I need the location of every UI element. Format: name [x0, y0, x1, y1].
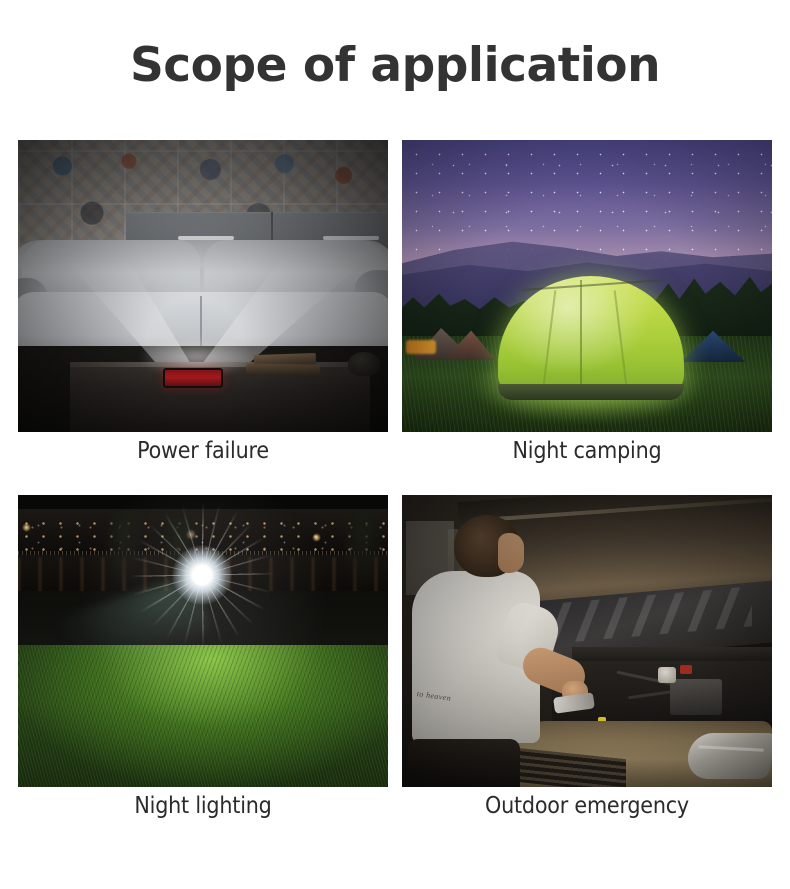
photo-outdoor-emergency[interactable]: to heaven	[402, 495, 772, 787]
photo-night-camping[interactable]	[402, 140, 772, 432]
photo-power-failure[interactable]	[18, 140, 388, 432]
caption-night-camping: Night camping	[402, 438, 772, 464]
photo-night-lighting[interactable]	[18, 495, 388, 787]
atmospheric-haze	[18, 495, 388, 787]
caption-night-lighting: Night lighting	[18, 793, 388, 819]
photo-vignette	[402, 495, 772, 787]
page-title: Scope of application	[0, 38, 790, 93]
gallery-item-power-failure[interactable]: Power failure	[18, 140, 388, 432]
infographic-page: Scope of application	[0, 0, 790, 889]
photo-vignette	[402, 140, 772, 432]
gallery-item-outdoor-emergency[interactable]: to heaven Outdoor emergency	[402, 495, 772, 787]
gallery-item-night-camping[interactable]: Night camping	[402, 140, 772, 432]
photo-vignette	[18, 140, 388, 432]
caption-outdoor-emergency: Outdoor emergency	[402, 793, 772, 819]
caption-power-failure: Power failure	[18, 438, 388, 464]
application-gallery-grid: Power failure	[18, 140, 772, 852]
gallery-item-night-lighting[interactable]: Night lighting	[18, 495, 388, 787]
